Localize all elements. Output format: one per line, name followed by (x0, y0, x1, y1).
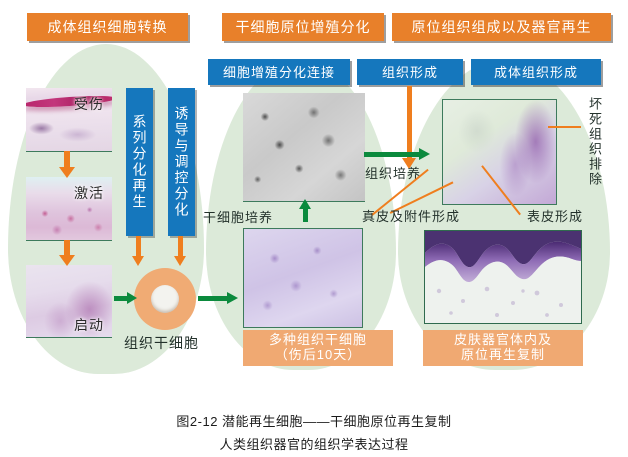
figure-caption-line2: 人类组织器官的组织学表达过程 (0, 434, 628, 453)
blue-banner-tissue-formation[interactable]: 组织形成 (357, 59, 463, 85)
micrograph-wound: 受伤 (26, 88, 112, 152)
arrow-tissue-formation-down (407, 86, 412, 160)
blue-banner-label: 组织形成 (382, 66, 438, 79)
arrow-stemcell-to-colony (198, 296, 228, 301)
arrow-wound-to-activate-head (59, 167, 75, 178)
blue-banner-label: 细胞增殖分化连接 (223, 66, 335, 79)
arrow-initiate-to-stemcell (114, 296, 128, 301)
label-necrotic-tissue-removal: 坏死组织排除 (585, 97, 604, 215)
figure-caption-line1: 图2-12 潜能再生细胞——干细胞原位再生复制 (0, 411, 628, 430)
arrow-tissue-culture-head (419, 148, 430, 160)
micrograph-skin (424, 230, 582, 324)
top-banner-label: 原位组织组成以及器官再生 (412, 20, 592, 34)
top-banner-adult-cell-conversion[interactable]: 成体组织细胞转换 (27, 13, 188, 41)
micrograph-stem-culture (243, 93, 365, 202)
blue-banner-label: 成体组织形成 (494, 66, 578, 79)
blue-banner-adult-tissue-formation[interactable]: 成体组织形成 (471, 59, 601, 85)
arrow-serial-diff-to-stemcell-head (132, 256, 144, 266)
top-banner-tissue-organ-regeneration[interactable]: 原位组织组成以及器官再生 (392, 13, 611, 41)
arrow-stemcell-to-colony-head (227, 292, 238, 304)
peach-caption-line1: 多种组织干细胞 (269, 333, 367, 348)
diagram-canvas: 成体组织细胞转换 干细胞原位增殖分化 原位组织组成以及器官再生 细胞增殖分化连接… (0, 0, 628, 457)
arrow-induction-to-stemcell-head (174, 256, 186, 266)
vertical-box-label: 系列分化再生 (130, 114, 150, 210)
skin-epidermis-svg (425, 231, 581, 323)
arrow-initiate-to-stemcell-head (127, 292, 137, 304)
arrow-colony-to-culture (303, 208, 308, 222)
top-banner-label: 成体组织细胞转换 (48, 20, 168, 34)
arrow-serial-diff-to-stemcell (136, 236, 141, 258)
arrow-activate-to-initiate-head (59, 255, 75, 266)
peach-caption-multi-tissue-stem-cells: 多种组织干细胞 （伤后10天） (243, 330, 393, 366)
micrograph-activate: 激活 (26, 177, 112, 241)
top-banner-label: 干细胞原位增殖分化 (236, 20, 371, 34)
tissue-stem-cell-donut (134, 268, 196, 330)
label-epidermis-formation: 表皮形成 (527, 206, 583, 225)
peach-caption-line2: 原位再生复制 (461, 348, 545, 363)
arrow-tissue-culture (364, 152, 420, 157)
vertical-box-label: 诱导与调控分化 (172, 106, 192, 218)
leader-necrotic (548, 126, 581, 128)
micrograph-stem-colony (243, 228, 363, 328)
micrograph-initiate-label: 启动 (74, 315, 104, 335)
label-stem-cell-culture: 干细胞培养 (203, 207, 273, 226)
label-tissue-stem-cell: 组织干细胞 (124, 333, 199, 353)
label-dermis-formation: 真皮及附件形成 (362, 206, 460, 225)
donut-hole (151, 285, 179, 313)
micrograph-initiate: 启动 (26, 265, 112, 338)
vertical-box-induction-regulation[interactable]: 诱导与调控分化 (168, 88, 195, 236)
micrograph-activate-label: 激活 (74, 183, 104, 203)
vertical-box-serial-differentiation[interactable]: 系列分化再生 (126, 88, 153, 236)
peach-caption-line1: 皮肤器官体内及 (454, 333, 552, 348)
peach-caption-skin-organ-regeneration: 皮肤器官体内及 原位再生复制 (423, 330, 583, 366)
blue-banner-cell-proliferation-junction[interactable]: 细胞增殖分化连接 (208, 59, 350, 85)
peach-caption-line2: （伤后10天） (275, 348, 361, 363)
arrow-induction-to-stemcell (178, 236, 183, 258)
arrow-colony-to-culture-head (299, 199, 311, 209)
micrograph-wound-label: 受伤 (74, 94, 104, 114)
top-banner-stem-cell-proliferation[interactable]: 干细胞原位增殖分化 (222, 13, 384, 41)
